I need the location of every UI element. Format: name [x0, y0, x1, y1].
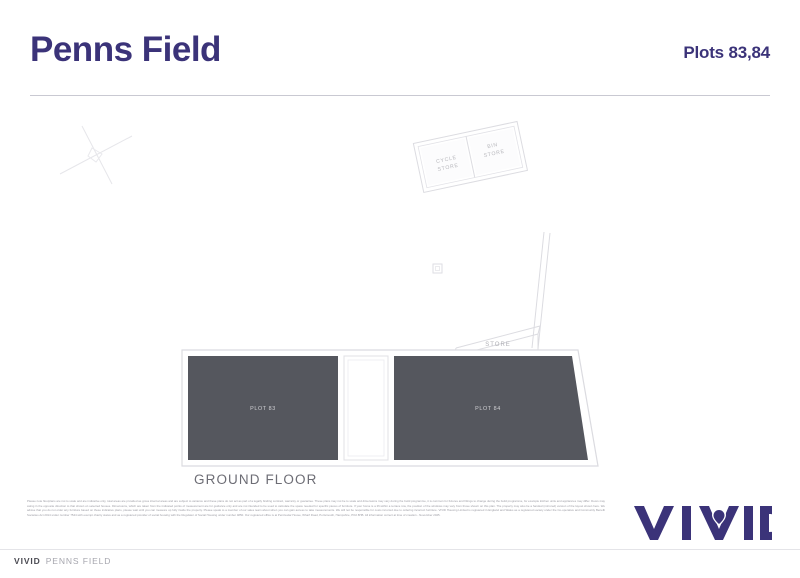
ground-floor-label: GROUND FLOOR — [194, 472, 317, 487]
floorplan-page: Penns Field Plots 83,84 — [0, 0, 800, 578]
disclaimer-text: Please note floorplans are not to scale … — [27, 499, 605, 517]
north-compass-icon — [58, 122, 134, 188]
plot-84-label: PLOT 84 — [475, 406, 501, 412]
footer-divider — [0, 549, 800, 550]
document-header: Penns Field Plots 83,84 — [30, 32, 770, 94]
header-divider — [30, 95, 770, 96]
site-drawing: CYCLE STORE BIN STORE — [0, 100, 800, 490]
plot-83-label: PLOT 83 — [250, 406, 276, 412]
outbuilding-stores: CYCLE STORE BIN STORE — [405, 110, 535, 200]
footer-bar: VIVIDPENNS FIELD — [14, 556, 111, 566]
vivid-logo — [632, 498, 772, 544]
footer-site-name: PENNS FIELD — [46, 556, 112, 566]
ground-floor-plan: PLOT 83 PLOT 84 — [180, 348, 600, 473]
page-title: Penns Field — [30, 32, 221, 67]
footer-brand: VIVID — [14, 556, 41, 566]
plots-label: Plots 83,84 — [683, 43, 770, 63]
